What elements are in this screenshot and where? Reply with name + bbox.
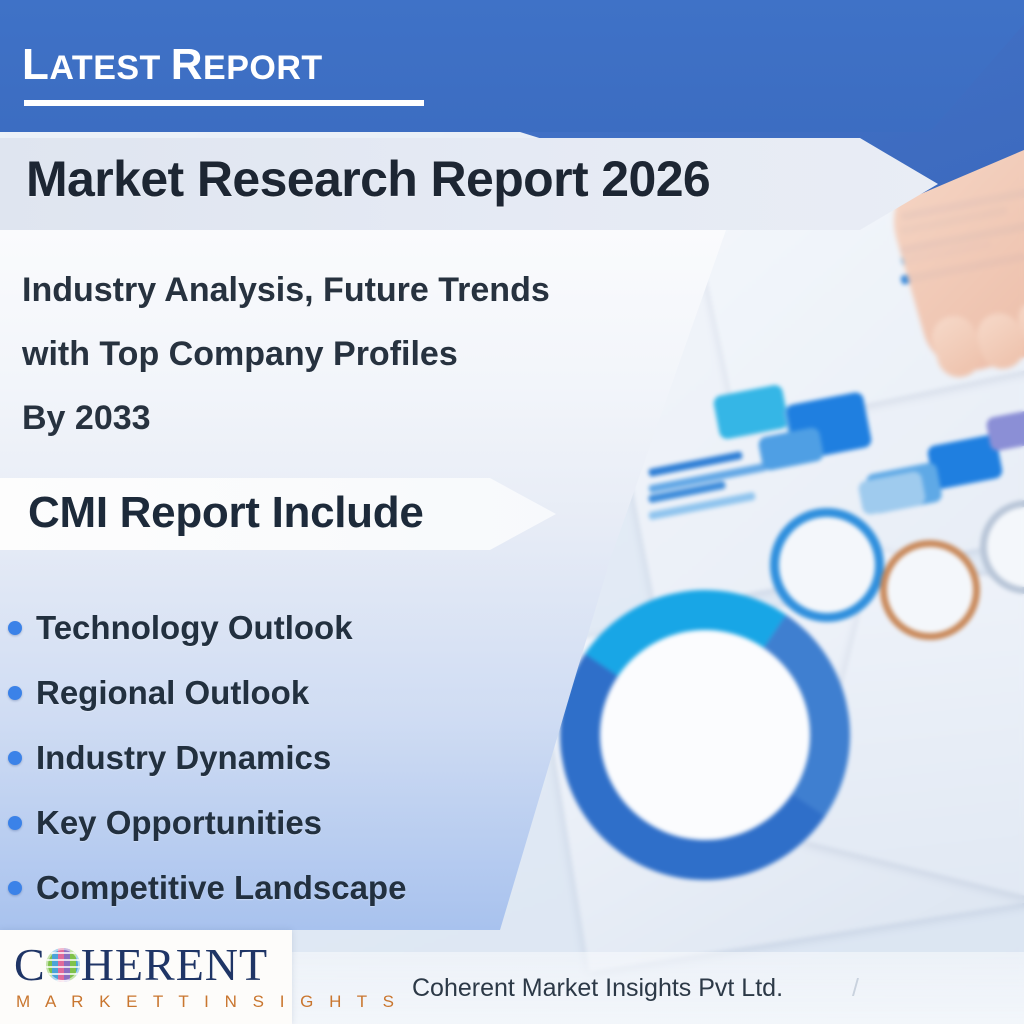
- list-item: Regional Outlook: [8, 660, 568, 725]
- list-item-label: Regional Outlook: [36, 674, 309, 712]
- list-item-label: Key Opportunities: [36, 804, 322, 842]
- subtitle: Industry Analysis, Future Trends with To…: [22, 258, 702, 450]
- subtitle-line-1: Industry Analysis, Future Trends: [22, 258, 702, 322]
- bullet-dot-icon: [8, 751, 22, 765]
- bullet-dot-icon: [8, 816, 22, 830]
- page-title: Market Research Report 2026: [26, 150, 710, 208]
- subtitle-line-2: with Top Company Profiles: [22, 322, 702, 386]
- footer-caption-faint: /: [852, 974, 859, 1003]
- eyebrow-letter-r: R: [171, 40, 203, 89]
- list-item-label: Competitive Landscape: [36, 869, 406, 907]
- list-item-label: Industry Dynamics: [36, 739, 331, 777]
- list-item: Competitive Landscape: [8, 855, 568, 920]
- report-includes-list: Technology Outlook Regional Outlook Indu…: [8, 595, 568, 920]
- bullet-dot-icon: [8, 621, 22, 635]
- list-item: Technology Outlook: [8, 595, 568, 660]
- list-item: Key Opportunities: [8, 790, 568, 855]
- eyebrow-underline: [24, 100, 424, 106]
- logo-letter-c: C: [14, 942, 45, 988]
- footer-caption: Coherent Market Insights Pvt Ltd.: [412, 974, 783, 1003]
- globe-icon: [46, 948, 80, 982]
- eyebrow-letter-l: L: [22, 40, 49, 89]
- bullet-dot-icon: [8, 686, 22, 700]
- bullet-dot-icon: [8, 881, 22, 895]
- list-item-label: Technology Outlook: [36, 609, 353, 647]
- eyebrow-text-eport: EPORT: [203, 49, 323, 87]
- logo: C HERENT: [14, 942, 268, 988]
- section-banner-label: CMI Report Include: [28, 488, 424, 538]
- logo-wordmark: HERENT: [81, 942, 268, 988]
- subtitle-line-3: By 2033: [22, 386, 702, 450]
- list-item: Industry Dynamics: [8, 725, 568, 790]
- eyebrow-latest-report: LATEST REPORT: [22, 40, 323, 90]
- logo-tagline: M A R K E T T I N S I G H T S: [16, 992, 399, 1012]
- poster-canvas: LATEST REPORT Market Research Report 202…: [0, 0, 1024, 1024]
- eyebrow-text-atest: ATEST: [49, 49, 170, 87]
